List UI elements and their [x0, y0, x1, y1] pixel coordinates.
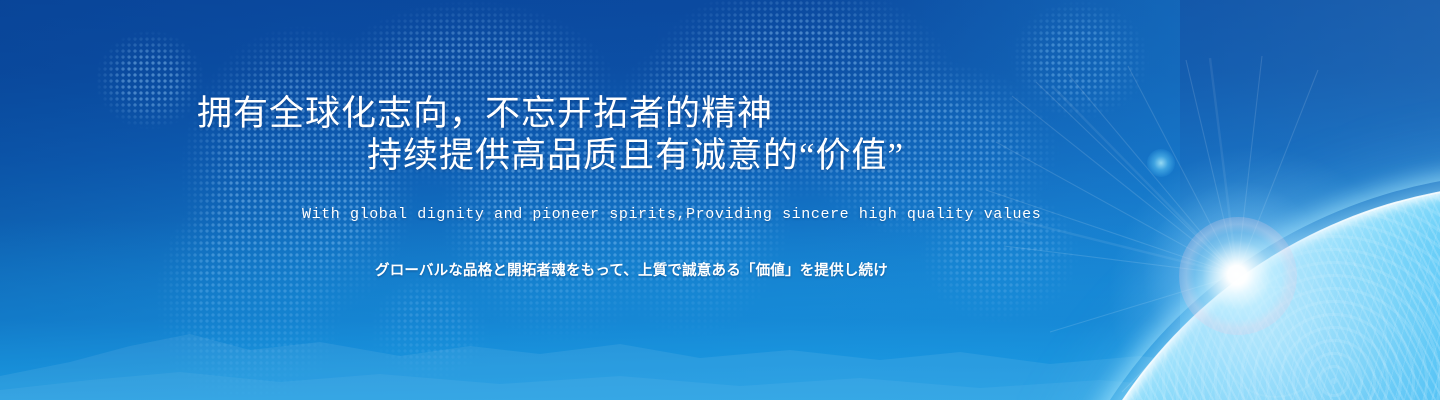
- hero-banner: 拥有全球化志向，不忘开拓者的精神 持续提供高品质且有诚意的“价值” With g…: [0, 0, 1440, 400]
- lens-flare-dot-icon: [1147, 149, 1175, 177]
- sun-flare-icon: [1237, 275, 1239, 277]
